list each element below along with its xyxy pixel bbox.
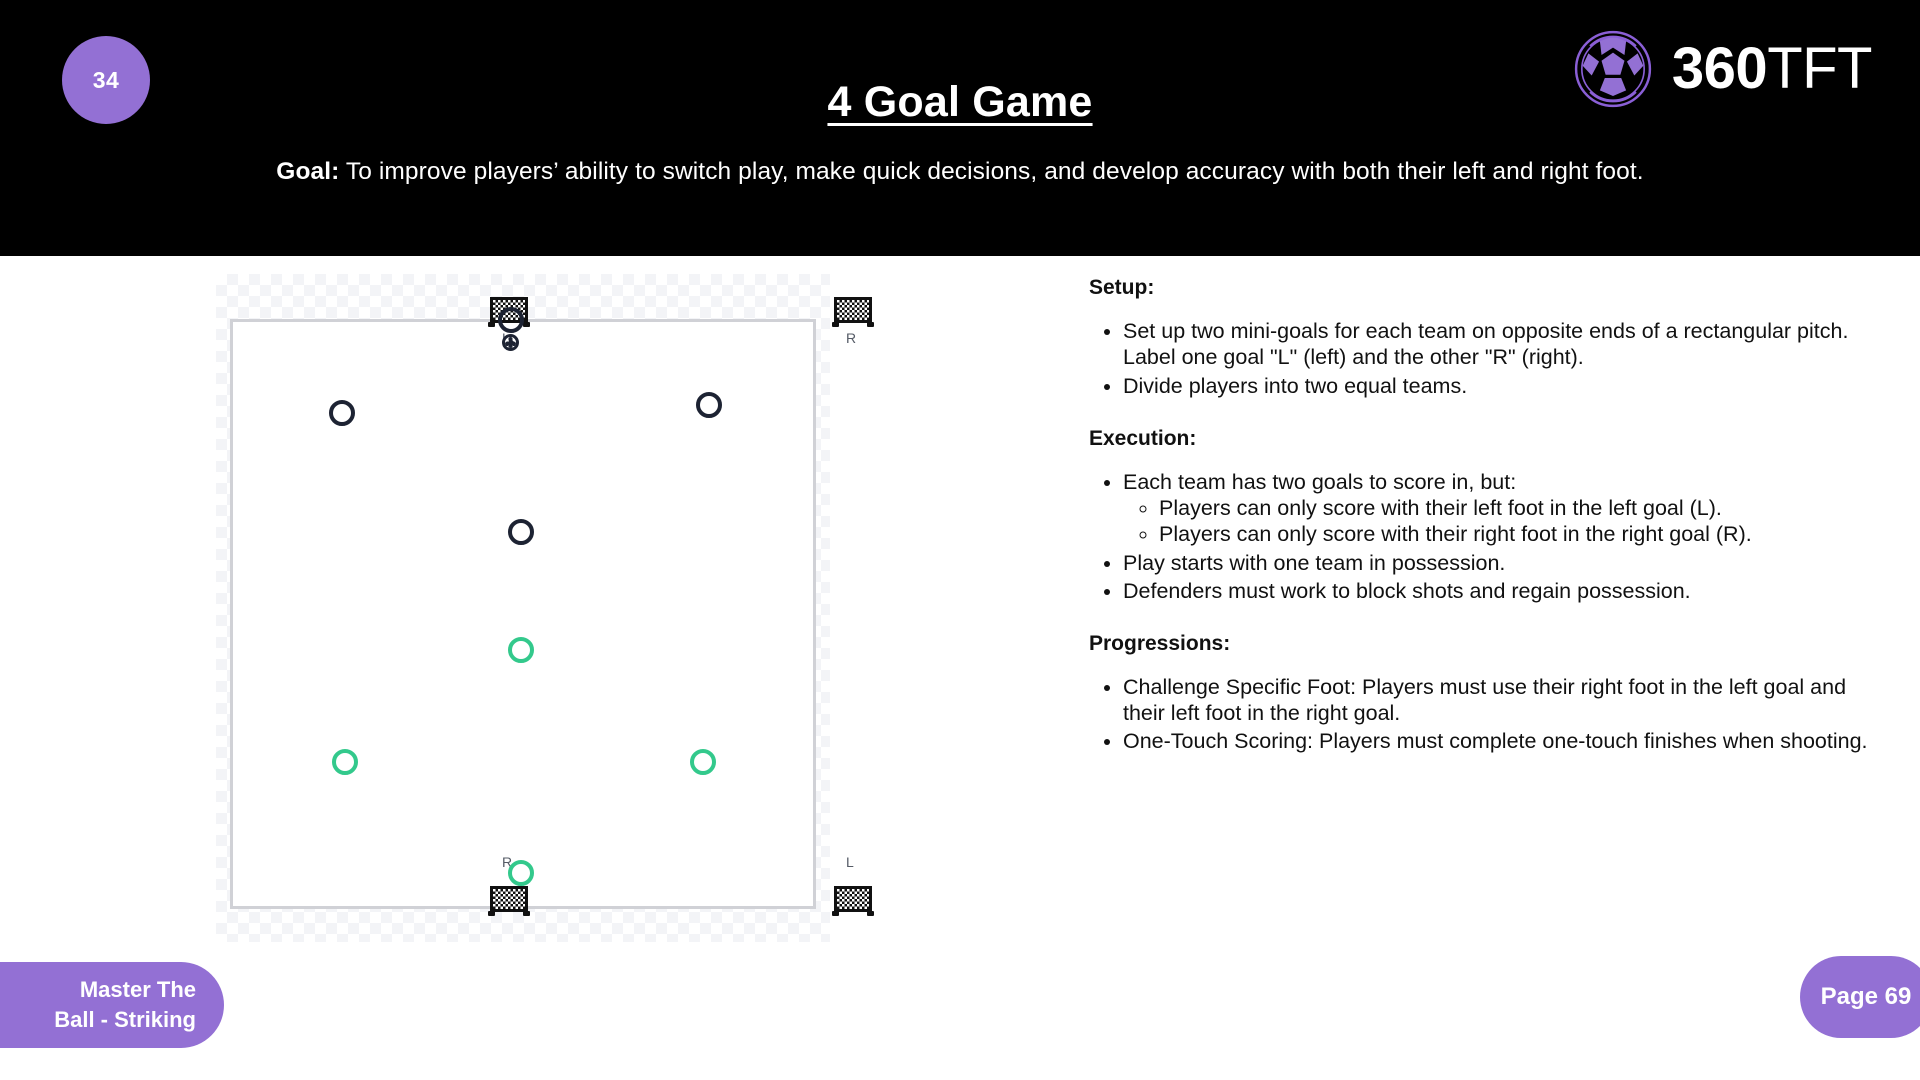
mini-goal-bottom-left xyxy=(488,886,530,914)
list-item: One-Touch Scoring: Players must complete… xyxy=(1123,728,1869,754)
player-marker-dark xyxy=(329,400,355,426)
setup-bullet-list: Set up two mini-goals for each team on o… xyxy=(1089,318,1869,399)
ball-marker xyxy=(502,334,519,351)
list-item: Divide players into two equal teams. xyxy=(1123,373,1869,399)
goal-net-icon xyxy=(834,297,872,323)
book-title-line2: Ball - Striking xyxy=(54,1005,196,1035)
goal-post-left xyxy=(832,322,839,327)
brand-tft: TFT xyxy=(1767,36,1872,101)
player-marker-dark xyxy=(498,307,524,333)
goal-label-bottom-right: L xyxy=(846,854,854,870)
goal-post-left xyxy=(832,911,839,916)
mini-goal-bottom-right xyxy=(832,886,874,914)
list-item-text: Each team has two goals to score in, but… xyxy=(1123,470,1516,494)
goal-post-right xyxy=(867,911,874,916)
goal-statement: Goal: To improve players’ ability to swi… xyxy=(0,158,1920,186)
player-marker-green xyxy=(508,637,534,663)
goal-statement-text: To improve players’ ability to switch pl… xyxy=(346,158,1644,185)
page-title: 4 Goal Game xyxy=(827,78,1092,127)
player-marker-green xyxy=(690,749,716,775)
execution-sub-list: Players can only score with their left f… xyxy=(1123,495,1869,547)
slide-page: 34 4 Goal Game Goal: To improve players’… xyxy=(0,0,1920,1080)
goal-net-icon xyxy=(834,886,872,912)
goal-post-left xyxy=(488,322,495,327)
book-title-pill: Master The Ball - Striking xyxy=(0,962,224,1048)
player-marker-dark xyxy=(508,519,534,545)
execution-bullet-list: Each team has two goals to score in, but… xyxy=(1089,469,1869,604)
list-item: Play starts with one team in possession. xyxy=(1123,550,1869,576)
goal-post-right xyxy=(523,911,530,916)
list-item: Challenge Specific Foot: Players must us… xyxy=(1123,674,1869,726)
goal-statement-label: Goal: xyxy=(276,158,339,185)
brand-wordmark: 360TFT xyxy=(1672,40,1872,98)
goal-post-right xyxy=(523,322,530,327)
section-progressions: Progressions: Challenge Specific Foot: P… xyxy=(1089,632,1869,755)
section-setup: Setup: Set up two mini-goals for each te… xyxy=(1089,276,1869,399)
player-marker-green xyxy=(332,749,358,775)
page-header: 34 4 Goal Game Goal: To improve players’… xyxy=(0,0,1920,256)
page-number-pill: Page 69 xyxy=(1800,956,1920,1038)
goal-post-left xyxy=(488,911,495,916)
page-body: L R R L xyxy=(0,256,1920,1080)
mini-goal-top-right xyxy=(832,297,874,325)
goal-label-top-right: R xyxy=(846,330,857,346)
pitch-rectangle xyxy=(230,319,816,909)
section-heading-execution: Execution: xyxy=(1089,427,1869,450)
ball-pattern xyxy=(505,337,516,348)
section-execution: Execution: Each team has two goals to sc… xyxy=(1089,427,1869,604)
section-heading-progressions: Progressions: xyxy=(1089,632,1869,655)
soccer-ball-icon xyxy=(1572,28,1654,110)
progressions-bullet-list: Challenge Specific Foot: Players must us… xyxy=(1089,674,1869,755)
goal-net-icon xyxy=(490,886,528,912)
book-title-line1: Master The xyxy=(80,975,196,1005)
list-item: Set up two mini-goals for each team on o… xyxy=(1123,318,1869,370)
list-item: Players can only score with their right … xyxy=(1159,521,1869,547)
list-item: Defenders must work to block shots and r… xyxy=(1123,578,1869,604)
four-goal-pitch-diagram: L R R L xyxy=(216,274,830,942)
player-marker-green xyxy=(508,860,534,886)
section-heading-setup: Setup: xyxy=(1089,276,1869,299)
brand-logo: 360TFT xyxy=(1572,28,1872,110)
instructions-column: Setup: Set up two mini-goals for each te… xyxy=(1089,276,1869,783)
brand-360: 360 xyxy=(1672,36,1767,101)
list-item: Each team has two goals to score in, but… xyxy=(1123,469,1869,548)
list-item: Players can only score with their left f… xyxy=(1159,495,1869,521)
player-marker-dark xyxy=(696,392,722,418)
goal-post-right xyxy=(867,322,874,327)
